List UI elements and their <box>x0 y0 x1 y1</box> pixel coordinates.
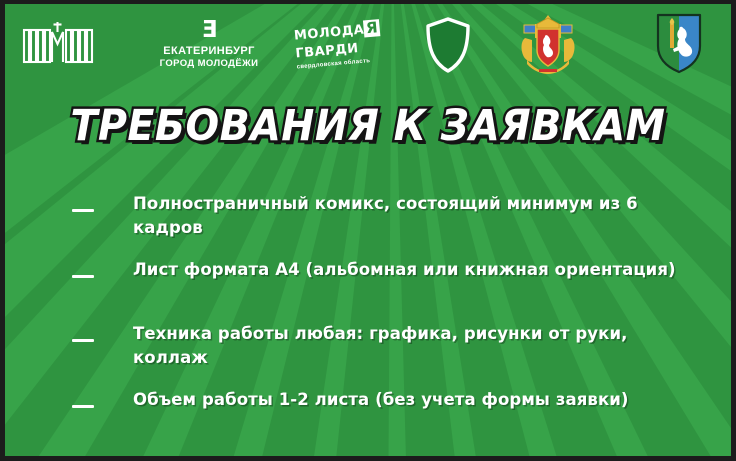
mg-row2: ГВАРДИ <box>295 42 359 61</box>
ekaterinburg-logo: Ǝ ЕКАТЕРИНБУРГ ГОРОД МОЛОДЁЖИ <box>150 19 268 67</box>
list-item: Техника работы любая: графика, рисунки о… <box>0 322 736 370</box>
bullet-dash-icon <box>72 405 94 408</box>
list-item-text: Техника работы любая: графика, рисунки о… <box>133 322 678 370</box>
list-item-text: Объем работы 1-2 листа (без учета формы … <box>133 388 629 412</box>
sverdlovsk-coat-of-arms-icon <box>515 12 581 76</box>
requirements-list: Полностраничный комикс, состоящий миниму… <box>0 192 736 452</box>
list-item: Лист формата А4 (альбомная или книжная о… <box>0 258 736 304</box>
molodaya-gvardiya-logo: МОЛОДАЯ ГВАРДИ свердловская область <box>293 18 402 73</box>
list-item-text: Лист формата А4 (альбомная или книжная о… <box>133 258 676 282</box>
list-item: Объем работы 1-2 листа (без учета формы … <box>0 388 736 434</box>
bullet-dash-icon <box>72 209 94 212</box>
page-title: ТРЕБОВАНИЯ К ЗАЯВКАМ <box>29 100 706 152</box>
logo-strip: Ǝ ЕКАТЕРИНБУРГ ГОРОД МОЛОДЁЖИ МОЛОДАЯ ГВ… <box>0 0 736 92</box>
bullet-dash-icon <box>72 275 94 278</box>
ekaterinburg-logo-line2: ГОРОД МОЛОДЁЖИ <box>150 58 268 69</box>
list-item: Полностраничный комикс, состоящий миниму… <box>0 192 736 240</box>
ekaterinburg-logo-line1: ЕКАТЕРИНБУРГ <box>150 45 268 57</box>
ekaterinburg-shield-sable-icon <box>655 12 703 74</box>
presentation-slide: Ǝ ЕКАТЕРИНБУРГ ГОРОД МОЛОДЁЖИ МОЛОДАЯ ГВ… <box>0 0 736 461</box>
bullet-dash-icon <box>72 339 94 342</box>
shield-icon <box>424 16 472 74</box>
ekaterinburg-e-mark-icon: Ǝ <box>150 19 268 42</box>
museum-m-bars-icon <box>20 18 95 64</box>
mg-row1-box: Я <box>363 19 380 37</box>
list-item-text: Полностраничный комикс, состоящий миниму… <box>133 192 678 240</box>
